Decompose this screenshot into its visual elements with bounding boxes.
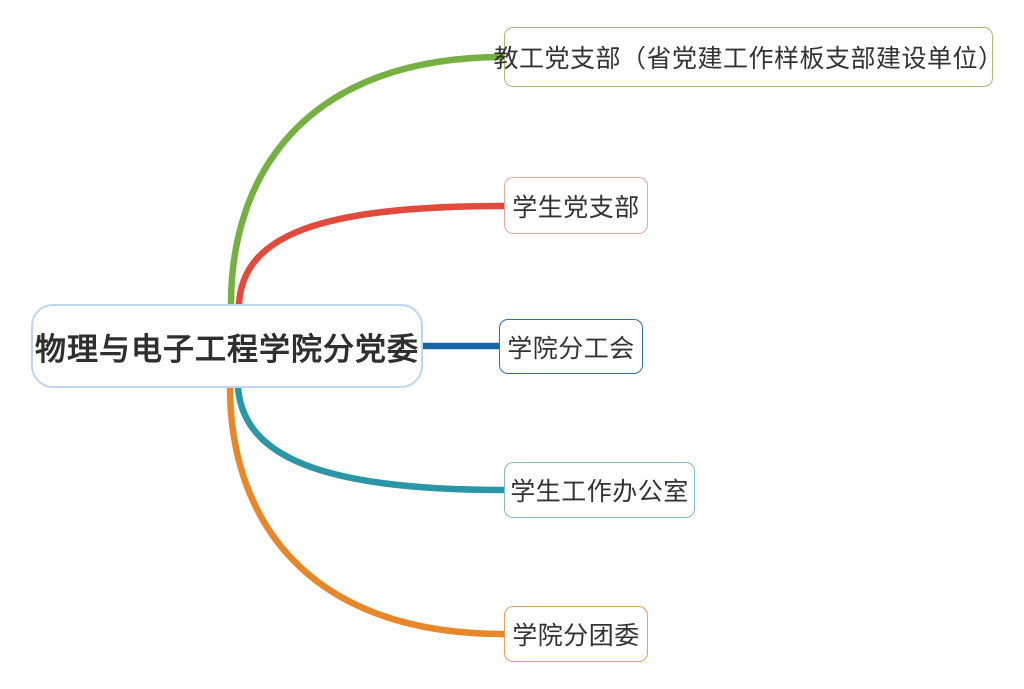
branch-node-xuesheng-gongzuo-bangongshi[interactable]: 学生工作办公室 (504, 462, 695, 518)
branch-node-xueyuan-fengonghui[interactable]: 学院分工会 (499, 319, 643, 374)
branch-node-xueyuan-fentuanwei[interactable]: 学院分团委 (504, 606, 648, 662)
branch-node-label: 教工党支部（省党建工作样板支部建设单位） (494, 39, 1004, 75)
root-node[interactable]: 物理与电子工程学院分党委 (31, 304, 423, 388)
branch-node-jiaogong-dangzhibu[interactable]: 教工党支部（省党建工作样板支部建设单位） (504, 27, 993, 87)
connector-curve-branch-1 (239, 206, 504, 304)
connector-curve-branch-4 (230, 387, 504, 634)
branch-node-xuesheng-dangzhibu[interactable]: 学生党支部 (504, 177, 648, 234)
branch-node-label: 学院分工会 (507, 329, 635, 365)
root-node-label: 物理与电子工程学院分党委 (35, 324, 419, 369)
connector-curve-branch-3 (238, 387, 504, 490)
branch-node-label: 学院分团委 (512, 616, 640, 652)
branch-node-label: 学生党支部 (512, 188, 640, 224)
connector-curve-branch-0 (231, 57, 504, 304)
mindmap-canvas: 物理与电子工程学院分党委 教工党支部（省党建工作样板支部建设单位） 学生党支部 … (0, 0, 1024, 689)
branch-node-label: 学生工作办公室 (510, 472, 689, 508)
